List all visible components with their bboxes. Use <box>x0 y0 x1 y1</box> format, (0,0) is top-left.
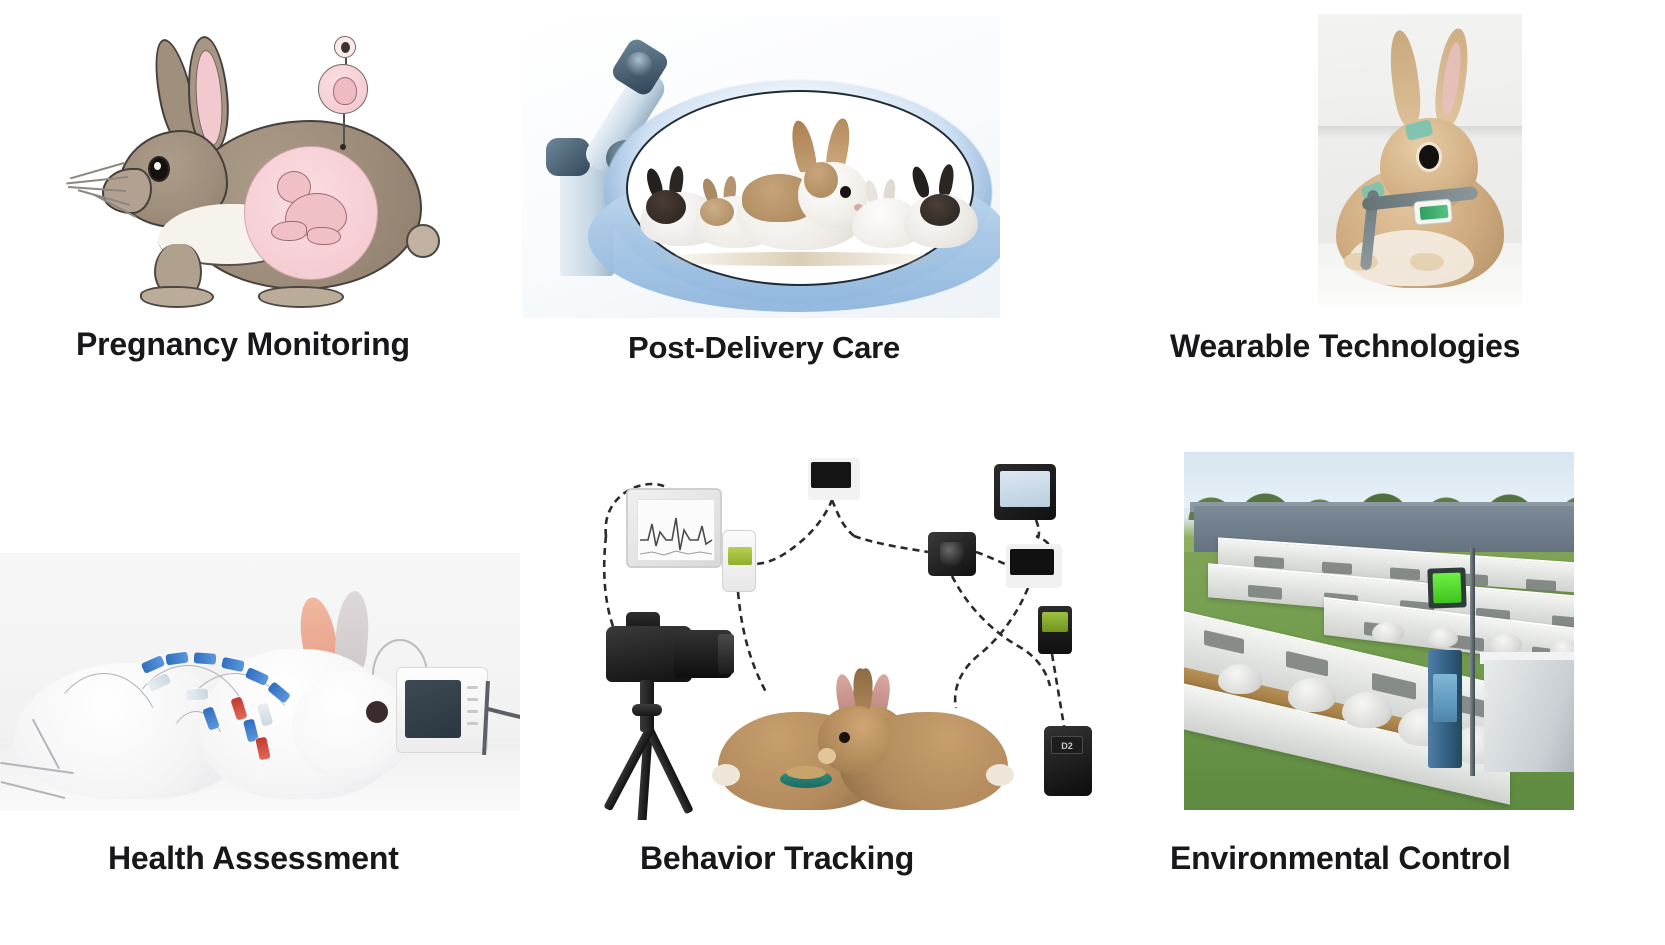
cage-vent <box>1204 630 1244 654</box>
control-kiosk[interactable] <box>1428 650 1462 768</box>
cage-vent <box>1526 579 1556 592</box>
status-display-icon[interactable] <box>1427 567 1466 608</box>
kiosk-screen[interactable] <box>1433 674 1457 722</box>
caged-rabbit <box>1218 664 1262 694</box>
environmental-control-image[interactable] <box>1184 452 1636 810</box>
figure-root: Pregnancy Monitoring <box>0 0 1665 945</box>
panel-right-margin <box>1574 452 1636 810</box>
caged-rabbit <box>1372 622 1404 642</box>
cage-vent <box>1286 651 1328 677</box>
caged-rabbit <box>1288 678 1336 712</box>
cage-vent <box>1248 585 1282 600</box>
caged-rabbit <box>1428 628 1458 647</box>
equipment-unit <box>1484 660 1576 772</box>
panel-cell-environmental-control: Environmental Control <box>0 0 1665 945</box>
kiosk-pole <box>1470 548 1475 776</box>
caged-rabbit <box>1342 692 1392 728</box>
caged-rabbit <box>1490 634 1522 654</box>
caption-environmental-control: Environmental Control <box>1170 840 1511 877</box>
cage-vent <box>1390 567 1420 580</box>
